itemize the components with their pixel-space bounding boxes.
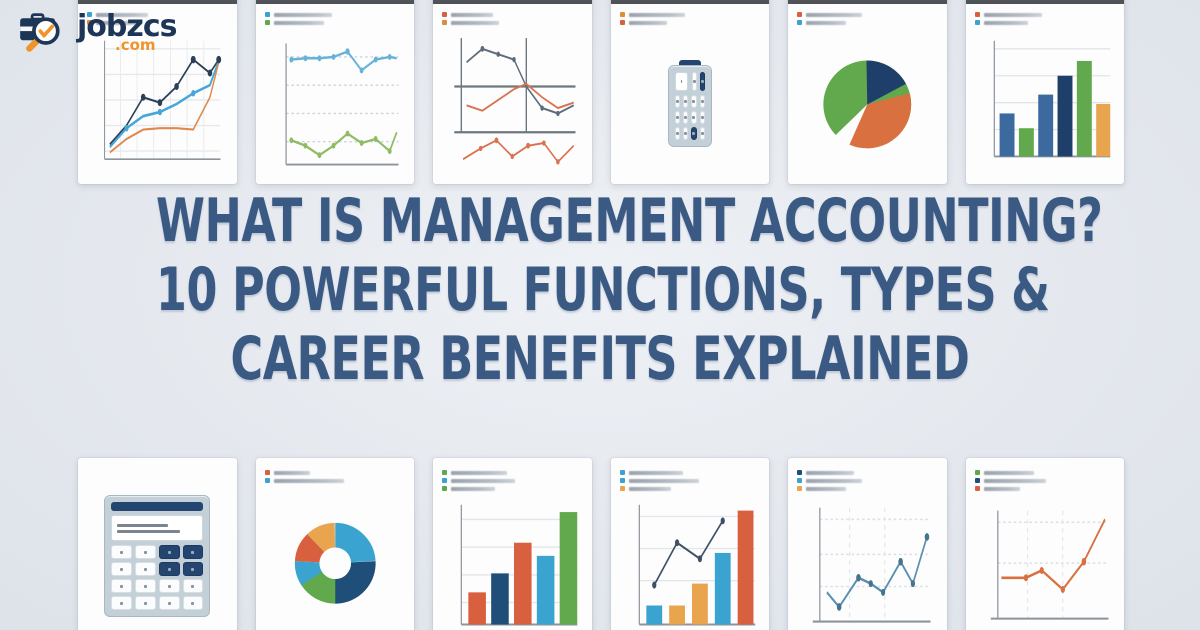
calculator-top-bar bbox=[111, 502, 203, 511]
chart-legend bbox=[620, 470, 761, 491]
calculator-key[interactable] bbox=[135, 545, 156, 559]
calculator-key[interactable] bbox=[700, 95, 705, 108]
calculator-illustration bbox=[87, 470, 228, 630]
calculator-display bbox=[111, 515, 203, 541]
legend-label bbox=[629, 479, 699, 483]
legend-swatch-icon bbox=[265, 20, 270, 25]
combo-plot-area bbox=[620, 496, 761, 630]
chart-legend bbox=[797, 12, 938, 25]
calculator-key[interactable] bbox=[111, 579, 132, 593]
legend-label bbox=[806, 471, 854, 475]
chart-legend bbox=[442, 470, 583, 491]
calculator-key-accent[interactable] bbox=[183, 562, 204, 576]
calculator-key-accent[interactable] bbox=[183, 545, 204, 559]
chart-legend bbox=[442, 12, 583, 25]
legend-label bbox=[984, 487, 1020, 491]
legend-label bbox=[984, 471, 1034, 475]
legend-item bbox=[797, 478, 938, 483]
headline-line-2: 10 POWERFUL FUNCTIONS, TYPES & bbox=[156, 261, 1044, 320]
calculator-key[interactable] bbox=[675, 95, 680, 108]
legend-swatch-icon bbox=[442, 478, 447, 483]
chart-card-row-bottom bbox=[78, 458, 1124, 630]
legend-label bbox=[451, 13, 493, 17]
legend-swatch-icon bbox=[442, 12, 447, 17]
headline-line-3: CAREER BENEFITS EXPLAINED bbox=[156, 330, 1044, 389]
calculator-key-accent[interactable] bbox=[159, 562, 180, 576]
legend-label bbox=[451, 471, 507, 475]
calculator-body bbox=[668, 65, 712, 147]
chart-card-top-4[interactable] bbox=[611, 0, 770, 184]
chart-card-top-6[interactable] bbox=[966, 0, 1125, 184]
calculator-key[interactable] bbox=[111, 545, 132, 559]
legend-item bbox=[265, 478, 406, 483]
legend-item bbox=[797, 486, 938, 491]
legend-label bbox=[274, 471, 310, 475]
calculator-key[interactable] bbox=[183, 596, 204, 610]
legend-item bbox=[975, 470, 1116, 475]
legend-swatch-icon bbox=[975, 478, 980, 483]
legend-swatch-icon bbox=[975, 12, 980, 17]
chart-card-bottom-1[interactable] bbox=[78, 458, 237, 630]
headline-line-1: WHAT IS MANAGEMENT ACCOUNTING? bbox=[156, 192, 1044, 251]
calculator-key[interactable] bbox=[683, 127, 688, 140]
line-plot-area bbox=[265, 30, 406, 178]
calculator-key[interactable] bbox=[683, 111, 688, 124]
chart-card-bottom-6[interactable] bbox=[966, 458, 1125, 630]
brand-tld: .com bbox=[115, 38, 176, 53]
calculator-keypad bbox=[675, 95, 705, 140]
legend-swatch-icon bbox=[975, 20, 980, 25]
page-title: WHAT IS MANAGEMENT ACCOUNTING? 10 POWERF… bbox=[0, 192, 1200, 388]
calculator-key[interactable] bbox=[111, 562, 132, 576]
calculator-key[interactable] bbox=[111, 596, 132, 610]
legend-label bbox=[274, 479, 344, 483]
calculator-key[interactable] bbox=[675, 127, 680, 140]
line-plot-area bbox=[975, 496, 1116, 630]
donut-plot-area bbox=[265, 488, 406, 630]
calculator-key[interactable] bbox=[700, 127, 705, 140]
legend-swatch-icon bbox=[442, 486, 447, 491]
legend-item bbox=[265, 12, 406, 17]
legend-swatch-icon bbox=[620, 486, 625, 491]
legend-label bbox=[806, 21, 846, 25]
briefcase-magnifier-icon bbox=[16, 10, 72, 54]
legend-item bbox=[442, 470, 583, 475]
chart-legend bbox=[975, 12, 1116, 25]
legend-swatch-icon bbox=[797, 486, 802, 491]
calculator-key[interactable] bbox=[691, 111, 696, 124]
calculator-key[interactable] bbox=[675, 111, 680, 124]
brand-logo[interactable]: jobzcs .com bbox=[16, 10, 176, 54]
legend-label bbox=[984, 479, 1046, 483]
legend-label bbox=[806, 13, 862, 17]
legend-swatch-icon bbox=[620, 12, 625, 17]
pie-plot-area bbox=[797, 30, 938, 178]
legend-swatch-icon bbox=[620, 20, 625, 25]
legend-label bbox=[984, 21, 1028, 25]
chart-card-row-top bbox=[78, 0, 1124, 184]
legend-label bbox=[274, 21, 324, 25]
legend-label bbox=[451, 487, 495, 491]
legend-item bbox=[442, 20, 583, 25]
legend-item bbox=[265, 470, 406, 475]
legend-label bbox=[629, 13, 685, 17]
legend-label bbox=[451, 479, 515, 483]
legend-swatch-icon bbox=[975, 486, 980, 491]
legend-swatch-icon bbox=[797, 20, 802, 25]
calculator-key-accent[interactable] bbox=[691, 127, 696, 140]
legend-item bbox=[442, 12, 583, 17]
legend-swatch-icon bbox=[975, 470, 980, 475]
legend-item bbox=[975, 20, 1116, 25]
legend-swatch-icon bbox=[797, 12, 802, 17]
calculator-body bbox=[104, 495, 210, 617]
legend-item bbox=[620, 478, 761, 483]
calculator-key[interactable] bbox=[183, 579, 204, 593]
legend-swatch-icon bbox=[442, 20, 447, 25]
line-plot-area bbox=[442, 30, 583, 178]
chart-legend bbox=[797, 470, 938, 491]
chart-legend bbox=[265, 470, 406, 483]
legend-label bbox=[629, 21, 667, 25]
calculator-key-accent[interactable] bbox=[700, 72, 705, 91]
calculator-key[interactable] bbox=[135, 596, 156, 610]
calculator-key[interactable] bbox=[691, 95, 696, 108]
calculator-key[interactable] bbox=[700, 111, 705, 124]
legend-item bbox=[620, 12, 761, 17]
legend-item bbox=[797, 20, 938, 25]
legend-item bbox=[442, 478, 583, 483]
chart-card-top-2[interactable] bbox=[256, 0, 415, 184]
poster-canvas: WHAT IS MANAGEMENT ACCOUNTING? 10 POWERF… bbox=[0, 0, 1200, 630]
calculator-keypad bbox=[111, 545, 203, 610]
legend-swatch-icon bbox=[265, 12, 270, 17]
legend-label bbox=[629, 471, 683, 475]
legend-item bbox=[620, 470, 761, 475]
chart-card-bottom-3[interactable] bbox=[433, 458, 592, 630]
legend-swatch-icon bbox=[797, 470, 802, 475]
legend-swatch-icon bbox=[620, 470, 625, 475]
calculator-key[interactable] bbox=[135, 562, 156, 576]
calculator-illustration bbox=[620, 28, 761, 178]
chart-card-top-5[interactable] bbox=[788, 0, 947, 184]
chart-legend bbox=[620, 12, 761, 25]
legend-label bbox=[451, 21, 499, 25]
legend-item bbox=[620, 20, 761, 25]
legend-item bbox=[975, 12, 1116, 17]
calculator-key[interactable] bbox=[159, 596, 180, 610]
calculator-display bbox=[675, 72, 688, 91]
legend-swatch-icon bbox=[797, 478, 802, 483]
legend-item bbox=[975, 486, 1116, 491]
calculator-key[interactable] bbox=[683, 95, 688, 108]
bar-plot-area bbox=[442, 496, 583, 630]
chart-legend bbox=[265, 12, 406, 25]
chart-card-bottom-5[interactable] bbox=[788, 458, 947, 630]
legend-label bbox=[806, 487, 846, 491]
line-plot-area bbox=[797, 496, 938, 630]
legend-item bbox=[797, 12, 938, 17]
chart-card-bottom-4[interactable] bbox=[611, 458, 770, 630]
legend-item bbox=[265, 20, 406, 25]
chart-legend bbox=[975, 470, 1116, 491]
legend-item bbox=[797, 470, 938, 475]
legend-label bbox=[274, 13, 332, 17]
calculator-key-accent[interactable] bbox=[159, 545, 180, 559]
calculator-key[interactable] bbox=[135, 579, 156, 593]
bar-plot-area bbox=[975, 30, 1116, 178]
legend-item bbox=[975, 478, 1116, 483]
legend-label bbox=[806, 479, 862, 483]
legend-swatch-icon bbox=[265, 478, 270, 483]
legend-swatch-icon bbox=[265, 470, 270, 475]
chart-card-bottom-2[interactable] bbox=[256, 458, 415, 630]
legend-item bbox=[620, 486, 761, 491]
legend-label bbox=[629, 487, 671, 491]
calculator-key[interactable] bbox=[159, 579, 180, 593]
legend-item bbox=[442, 486, 583, 491]
legend-swatch-icon bbox=[442, 470, 447, 475]
calculator-key[interactable] bbox=[692, 72, 697, 91]
legend-swatch-icon bbox=[620, 478, 625, 483]
chart-card-top-3[interactable] bbox=[433, 0, 592, 184]
legend-label bbox=[984, 13, 1042, 17]
